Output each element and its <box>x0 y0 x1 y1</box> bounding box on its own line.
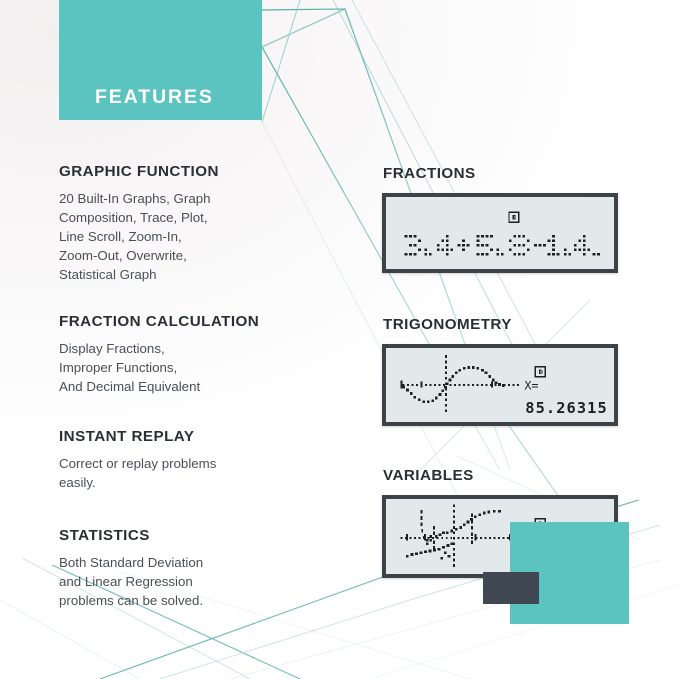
lcd-prompt: X= <box>524 379 538 393</box>
feature-section-fraction-calculation: FRACTION CALCULATION Display Fractions, … <box>59 313 319 397</box>
section-title: GRAPHIC FUNCTION <box>59 163 309 181</box>
feature-infographic: FEATURES GRAPHIC FUNCTION 20 Built-In Gr… <box>0 0 679 679</box>
feature-section-statistics: STATISTICS Both Standard Deviation and L… <box>59 527 309 611</box>
display-title-trigonometry: TRIGONOMETRY <box>383 316 512 333</box>
section-body: Both Standard Deviation and Linear Regre… <box>59 554 309 611</box>
section-body: 20 Built-In Graphs, Graph Composition, T… <box>59 190 309 284</box>
mode-indicator-deg <box>535 367 545 377</box>
display-title-variables: VARIABLES <box>383 467 474 484</box>
page-title: FEATURES <box>95 86 214 109</box>
section-body: Correct or replay problems easily. <box>59 455 309 493</box>
feature-section-instant-replay: INSTANT REPLAY Correct or replay problem… <box>59 428 309 493</box>
display-title-fractions: FRACTIONS <box>383 165 476 182</box>
section-body: Display Fractions, Improper Functions, A… <box>59 340 319 397</box>
dark-accent-rectangle <box>483 572 539 604</box>
section-title: INSTANT REPLAY <box>59 428 309 446</box>
lcd-value: 85.26315 <box>525 399 608 417</box>
lcd-display-trigonometry: X= 85.26315 <box>382 344 618 426</box>
section-title: FRACTION CALCULATION <box>59 313 319 331</box>
feature-section-graphic-function: GRAPHIC FUNCTION 20 Built-In Graphs, Gra… <box>59 163 309 285</box>
mode-indicator-deg <box>509 212 519 222</box>
section-title: STATISTICS <box>59 527 309 545</box>
lcd-display-fractions <box>382 193 618 273</box>
